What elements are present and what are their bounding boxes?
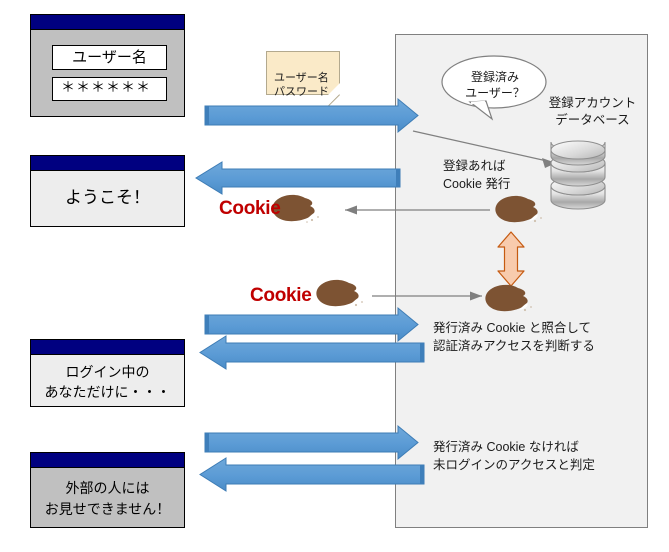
connector-line-cookie-issue (345, 206, 490, 215)
arrow-up-down-icon-cookie-match (498, 232, 524, 286)
note-issue-cookie: 登録あれば Cookie 発行 (443, 157, 510, 193)
database-label: 登録アカウント データベース (540, 95, 645, 129)
connector-line-cookie-send (372, 292, 482, 301)
arrow-left-icon-denied-response (200, 458, 424, 491)
cookie-icon-server-received (485, 285, 532, 311)
cookie-label-sent: Cookie (250, 285, 312, 307)
speech-bubble-text: 登録済み ユーザー？ (449, 69, 541, 101)
arrow-right-icon-cookie-request (205, 308, 418, 341)
cookie-icon-client-sent (316, 280, 363, 306)
note-no-cookie: 発行済み Cookie なければ 未ログインのアクセスと判定 (433, 438, 595, 474)
cookie-icon-server-issued (495, 196, 542, 222)
cookie-label-issued: Cookie (219, 198, 281, 220)
note-verify-cookie: 発行済み Cookie と照合して 認証済みアクセスを判断する (433, 319, 595, 355)
arrow-left-icon-authorized-response (200, 336, 424, 369)
arrow-right-icon-login-request (205, 99, 418, 132)
diagram-canvas: ユーザー名 ＊＊＊＊＊＊ ようこそ！ ログイン中の あなただけに・・・ 外部の人… (0, 0, 669, 552)
arrow-left-icon-welcome-response (196, 162, 400, 194)
arrow-right-icon-anonymous-request (205, 426, 418, 459)
database-icon (551, 141, 605, 209)
